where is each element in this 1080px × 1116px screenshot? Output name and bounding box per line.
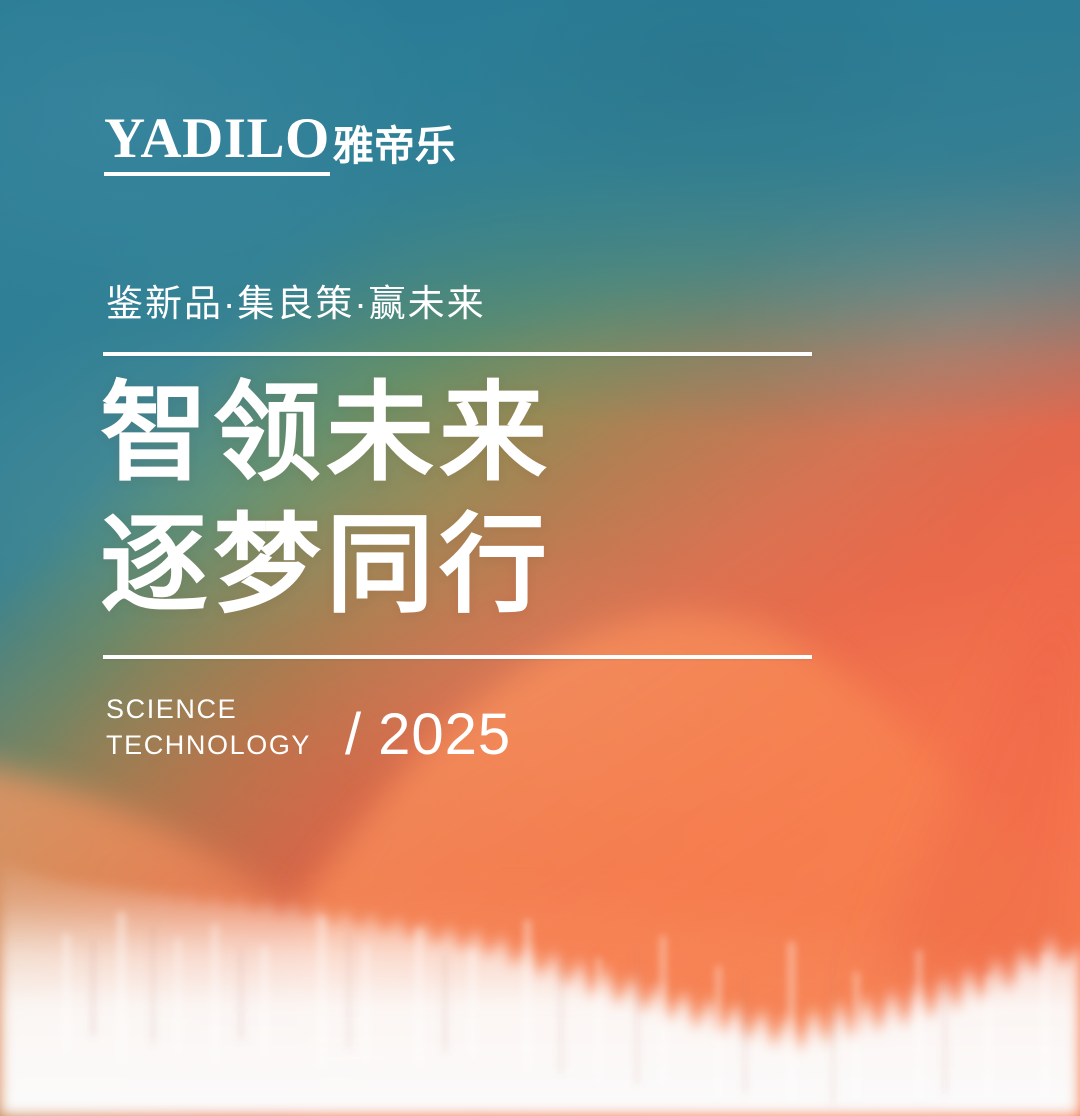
- subtitle-tagline: 鉴新品·集良策·赢未来: [106, 283, 486, 326]
- poster-content: YADILO 雅帝乐 鉴新品·集良策·赢未来 智领未来 逐梦同行 SCIENCE…: [0, 0, 1080, 1116]
- brand-logo-latin: YADILO: [104, 110, 330, 176]
- poster-canvas: YADILO 雅帝乐 鉴新品·集良策·赢未来 智领未来 逐梦同行 SCIENCE…: [0, 0, 1080, 1116]
- year-value: 2025: [378, 702, 511, 767]
- divider-top: [103, 352, 812, 356]
- science-label: SCIENCE: [106, 691, 311, 727]
- headline-block: 智领未来 逐梦同行: [100, 378, 552, 620]
- brand-logo-chinese: 雅帝乐: [333, 126, 456, 176]
- headline-line-1: 智领未来: [100, 378, 552, 488]
- year-label: /2025: [345, 706, 511, 764]
- footer-block: SCIENCE TECHNOLOGY /2025: [106, 690, 511, 764]
- science-technology-label: SCIENCE TECHNOLOGY: [106, 691, 311, 763]
- slash-separator: /: [345, 702, 362, 767]
- brand-logo: YADILO 雅帝乐: [104, 110, 456, 176]
- divider-bottom: [103, 655, 812, 659]
- headline-line-2: 逐梦同行: [100, 510, 552, 620]
- technology-label: TECHNOLOGY: [106, 727, 311, 763]
